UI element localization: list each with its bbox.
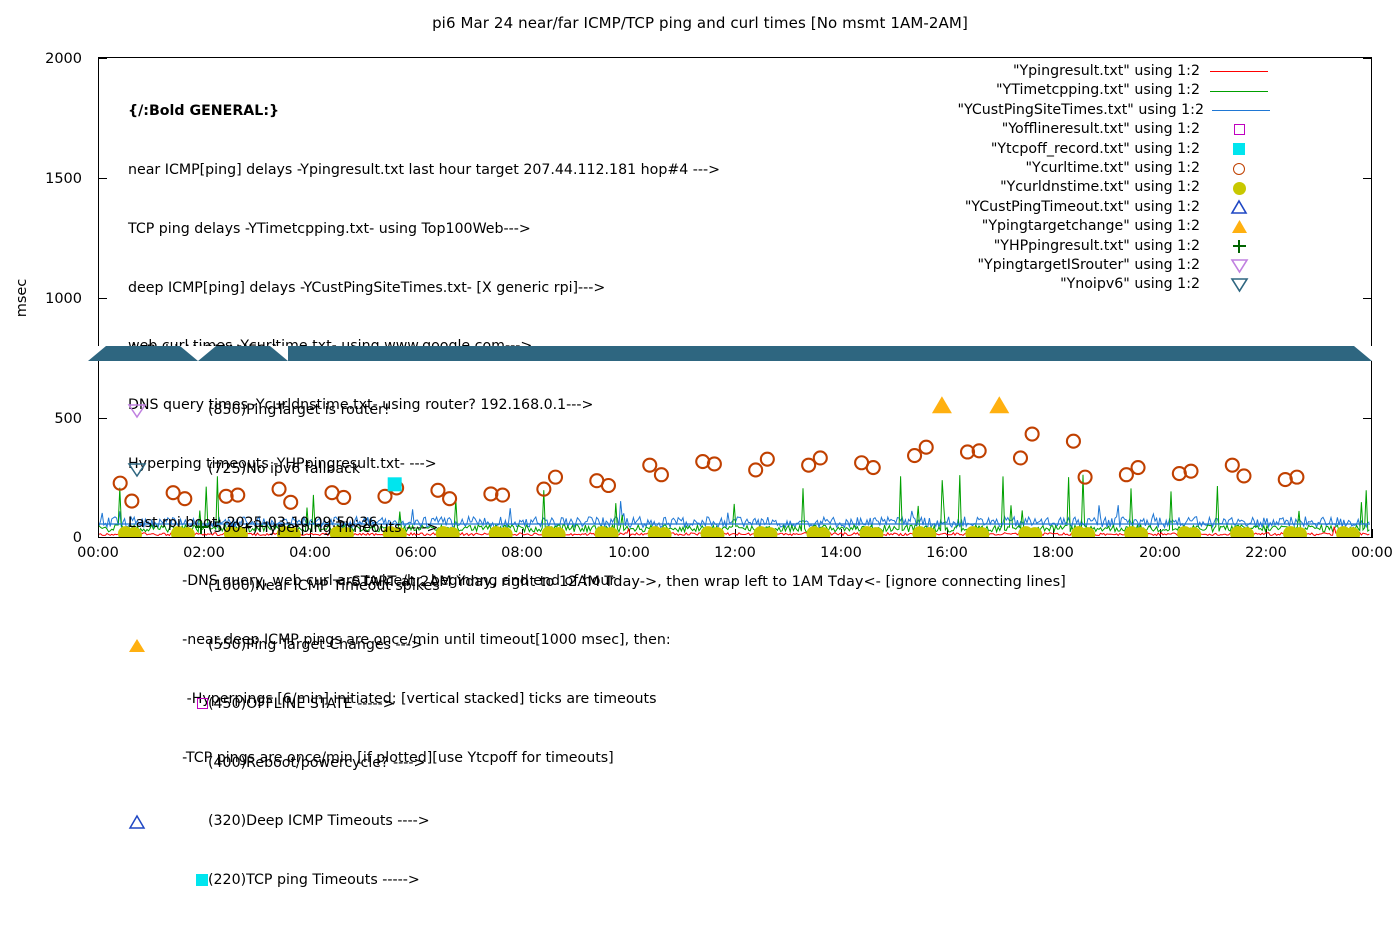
anomaly-text-0: (850)PingTarget is router! xyxy=(208,401,390,421)
general-line-0: near ICMP[ping] delays -Ypingresult.txt … xyxy=(128,161,720,181)
legend-key-filled-triangle-orange xyxy=(1208,217,1270,236)
band-notch-b xyxy=(198,346,216,361)
xtick-label-8: 16:00 xyxy=(887,545,1007,561)
anomaly-text-5: (450)OFFLINE STATE -----> xyxy=(208,695,395,715)
legend-key-line-green xyxy=(1208,81,1270,100)
ytick-label-1500: 1500 xyxy=(0,171,82,187)
anomaly-text-6: (400)Reboot/powercycle? ----> xyxy=(208,754,425,774)
legend-key-open-inv-triangle-violet xyxy=(1208,256,1270,275)
xtick-label-10: 20:00 xyxy=(1100,545,1220,561)
legend-entry-11: "Ynoipv6" using 1:2 xyxy=(960,275,1270,294)
curltime-marker xyxy=(1226,459,1239,472)
filled-circle-icon xyxy=(1233,182,1246,195)
ytick-label-500: 500 xyxy=(0,411,82,427)
anomaly-text-4: (550)Ping Target Changes ---> xyxy=(208,636,423,656)
anomaly-row-3: (1000)Near ICMP Timeout spikes xyxy=(128,577,440,597)
ytick-mark-right-0 xyxy=(1363,537,1372,538)
legend-label-3: "Yofflineresult.txt" using 1:2 xyxy=(1002,120,1200,139)
ytick-label-2000: 2000 xyxy=(0,51,82,67)
y-axis-label: msec xyxy=(14,258,30,338)
general-heading: {/:Bold GENERAL:} xyxy=(128,102,720,122)
legend-label-8: "Ypingtargetchange" using 1:2 xyxy=(982,217,1200,236)
filled-triangle-orange-icon xyxy=(128,638,208,654)
band-notch-right xyxy=(1354,346,1372,361)
filled-triangle-icon xyxy=(1231,219,1248,234)
curltime-marker xyxy=(1067,435,1080,448)
anomaly-row-1: (725)No ipv6 fallback xyxy=(128,460,440,480)
legend-key-plus-green xyxy=(1208,237,1270,256)
anomaly-row-4: (550)Ping Target Changes ---> xyxy=(128,636,440,656)
legend-label-2: "YCustPingSiteTimes.txt" using 1:2 xyxy=(957,101,1204,120)
anomaly-text-7: (320)Deep ICMP Timeouts ----> xyxy=(208,812,430,832)
open-square-magenta-icon xyxy=(128,695,208,715)
curltime-marker xyxy=(114,477,127,490)
open-inv-triangle-slate-icon xyxy=(128,462,208,478)
legend-key-filled-circle-olive xyxy=(1208,178,1270,197)
open-triangle-icon xyxy=(1231,200,1247,214)
anomalies-block: {/:Bold ANOMALIES:} (850)PingTarget is r… xyxy=(128,303,440,930)
curltime-marker xyxy=(1079,471,1092,484)
xtick-label-12: 00:00 xyxy=(1312,545,1400,561)
curltime-marker xyxy=(749,463,762,476)
anomaly-row-7: (320)Deep ICMP Timeouts ----> xyxy=(128,812,440,832)
legend-label-7: "YCustPingTimeout.txt" using 1:2 xyxy=(965,198,1200,217)
band-notch-c xyxy=(270,346,288,361)
plus-green-icon xyxy=(128,519,208,539)
legend-key-open-square-magenta xyxy=(1208,120,1270,139)
legend-entry-10: "YpingtargetISrouter" using 1:2 xyxy=(960,256,1270,275)
curltime-marker xyxy=(1026,428,1039,441)
curltime-marker xyxy=(920,441,933,454)
chart-root: pi6 Mar 24 near/far ICMP/TCP ping and cu… xyxy=(0,0,1400,600)
legend-label-11: "Ynoipv6" using 1:2 xyxy=(1060,275,1200,294)
legend-entry-4: "Ytcpoff_record.txt" using 1:2 xyxy=(960,140,1270,159)
anomaly-row-0: (850)PingTarget is router! xyxy=(128,401,440,421)
xtick-mark-12 xyxy=(1372,529,1373,538)
xtick-label-7: 14:00 xyxy=(781,545,901,561)
chart-title: pi6 Mar 24 near/far ICMP/TCP ping and cu… xyxy=(0,14,1400,32)
legend-entry-0: "Ypingresult.txt" using 1:2 xyxy=(960,62,1270,81)
legend-label-9: "YHPpingresult.txt" using 1:2 xyxy=(994,237,1200,256)
legend-label-1: "YTimetcpping.txt" using 1:2 xyxy=(996,81,1200,100)
curltime-marker xyxy=(1120,468,1133,481)
anomaly-row-5: (450)OFFLINE STATE -----> xyxy=(128,695,440,715)
general-line-1: TCP ping delays -YTimetcpping.txt- using… xyxy=(128,220,720,240)
anomaly-row-6: (400)Reboot/powercycle? ----> xyxy=(128,754,440,774)
open-inv-triangle-dark-icon xyxy=(1231,278,1248,292)
curltime-marker xyxy=(867,461,880,474)
ytick-mark-0 xyxy=(98,537,107,538)
open-triangle-blue-icon xyxy=(128,814,208,830)
curltime-marker xyxy=(908,449,921,462)
band-notch-left xyxy=(88,346,106,361)
legend: "Ypingresult.txt" using 1:2 "YTimetcppin… xyxy=(960,62,1270,295)
curltime-marker xyxy=(761,453,774,466)
curltime-marker xyxy=(1132,461,1145,474)
general-line-2: deep ICMP[ping] delays -YCustPingSiteTim… xyxy=(128,279,720,299)
ytick-label-1000: 1000 xyxy=(0,291,82,307)
legend-entry-1: "YTimetcpping.txt" using 1:2 xyxy=(960,81,1270,100)
open-square-icon xyxy=(1234,124,1245,135)
curltime-marker xyxy=(814,451,827,464)
anomaly-row-8: (220)TCP ping Timeouts -----> xyxy=(128,871,440,891)
legend-label-6: "Ycurldnstime.txt" using 1:2 xyxy=(1000,178,1200,197)
curltime-marker xyxy=(802,459,815,472)
teal-selection-band[interactable] xyxy=(88,346,1372,361)
legend-key-open-circle-orange xyxy=(1208,159,1270,178)
legend-entry-6: "Ycurldnstime.txt" using 1:2 xyxy=(960,178,1270,197)
anomaly-text-3: (1000)Near ICMP Timeout spikes xyxy=(208,577,440,597)
plus-icon xyxy=(1233,240,1246,253)
anomaly-row-2: (500+)Hyperping Timeouts ----> xyxy=(128,519,440,539)
legend-entry-8: "Ypingtargetchange" using 1:2 xyxy=(960,217,1270,236)
legend-entry-5: "Ycurltime.txt" using 1:2 xyxy=(960,159,1270,178)
pingtargetchange-marker xyxy=(932,396,952,413)
legend-key-filled-square-cyan xyxy=(1208,140,1270,159)
pingtargetchange-marker xyxy=(989,396,1009,413)
curltime-marker xyxy=(1014,451,1027,464)
open-inv-triangle-violet-icon xyxy=(128,403,208,419)
band-notch-a xyxy=(180,346,198,361)
legend-label-4: "Ytcpoff_record.txt" using 1:2 xyxy=(991,140,1200,159)
anomaly-text-2: (500+)Hyperping Timeouts ----> xyxy=(208,519,438,539)
legend-label-0: "Ypingresult.txt" using 1:2 xyxy=(1013,62,1200,81)
anomaly-text-1: (725)No ipv6 fallback xyxy=(208,460,360,480)
filled-square-cyan-icon xyxy=(128,871,208,891)
legend-key-open-inv-triangle-slate xyxy=(1208,275,1270,294)
legend-entry-7: "YCustPingTimeout.txt" using 1:2 xyxy=(960,198,1270,217)
legend-label-5: "Ycurltime.txt" using 1:2 xyxy=(1025,159,1200,178)
legend-entry-3: "Yofflineresult.txt" using 1:2 xyxy=(960,120,1270,139)
legend-entry-9: "YHPpingresult.txt" using 1:2 xyxy=(960,237,1270,256)
legend-label-10: "YpingtargetISrouter" using 1:2 xyxy=(978,256,1200,275)
open-inv-triangle-icon xyxy=(1231,259,1248,273)
curltime-marker xyxy=(1237,469,1250,482)
anomaly-text-8: (220)TCP ping Timeouts -----> xyxy=(208,871,420,891)
filled-square-icon xyxy=(1233,143,1245,155)
legend-key-line-red xyxy=(1208,62,1270,81)
open-circle-icon xyxy=(1233,163,1245,175)
xtick-label-11: 22:00 xyxy=(1206,545,1326,561)
ytick-label-0: 0 xyxy=(0,530,82,546)
legend-key-line-blue xyxy=(1212,101,1270,120)
legend-key-open-triangle-blue xyxy=(1208,198,1270,217)
legend-entry-2: "YCustPingSiteTimes.txt" using 1:2 xyxy=(960,101,1270,120)
xtick-label-9: 18:00 xyxy=(993,545,1113,561)
